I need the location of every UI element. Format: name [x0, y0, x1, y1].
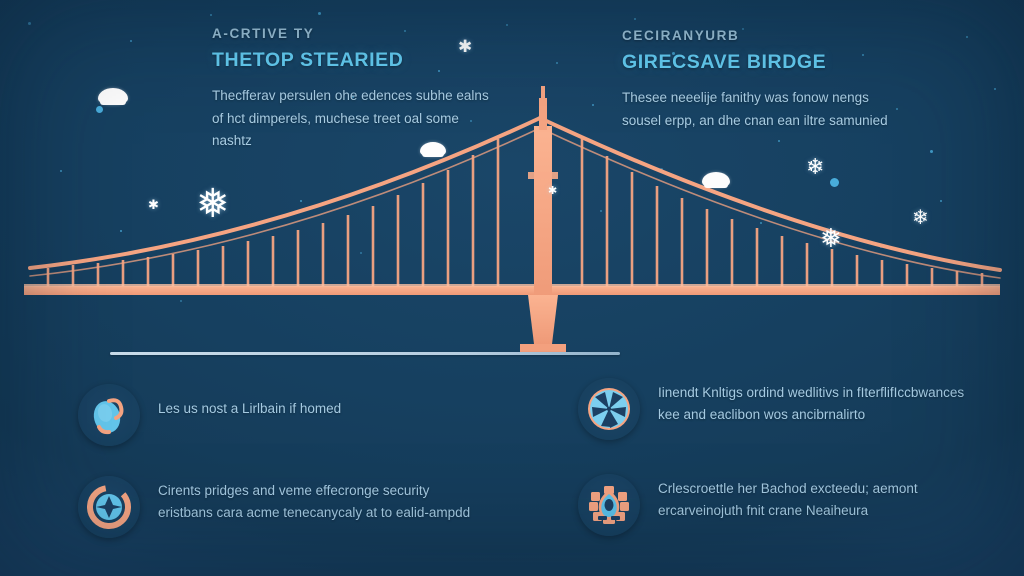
star-dot	[660, 168, 663, 171]
star-dot	[96, 106, 103, 113]
infographic-canvas: ❅ ✱ ✱ ❄ ❅ ❄ ✱ A-CRTIVE TY THETOP STEARIE…	[0, 0, 1024, 576]
star-dot	[120, 230, 122, 232]
snowflake-icon: ✱	[548, 186, 557, 197]
star-dot	[592, 104, 594, 106]
star-dot	[634, 18, 636, 20]
snowflake-icon: ❄	[806, 156, 824, 178]
right-eyebrow: CECIRANYURB	[622, 28, 922, 43]
snowflake-icon: ❅	[196, 184, 230, 224]
star-dot	[966, 36, 968, 38]
spoked-circle-icon	[578, 378, 640, 440]
pinwheel-ring-icon	[78, 476, 140, 538]
star-dot	[130, 40, 132, 42]
right-body: Thesee neeelije fanithy was fonow nengs …	[622, 87, 907, 132]
star-dot	[778, 140, 780, 142]
cloud-icon	[702, 172, 730, 188]
list-item-label: Cirents pridges and veme effecronge secu…	[158, 476, 478, 524]
left-eyebrow: A-CRTIVE TY	[212, 26, 512, 41]
star-dot	[600, 210, 602, 212]
column-left: A-CRTIVE TY THETOP STEARIED Thecfferav p…	[212, 26, 512, 153]
list-item-label: Les us nost a Lirlbain if homed	[158, 384, 341, 420]
star-dot	[930, 150, 933, 153]
star-dot	[830, 178, 839, 187]
snowflake-icon: ❄	[912, 208, 929, 228]
star-dot	[28, 22, 31, 25]
star-dot	[180, 300, 182, 302]
star-dot	[556, 62, 558, 64]
right-headline: GIRECSAVE BIRDGE	[622, 51, 922, 74]
star-dot	[880, 246, 882, 248]
list-item[interactable]: Les us nost a Lirlbain if homed	[78, 384, 478, 446]
star-dot	[60, 170, 62, 172]
snowflake-icon: ✱	[148, 198, 159, 211]
list-item[interactable]: Crlescroettle her Bachod excteedu; aemon…	[578, 474, 978, 536]
star-dot	[300, 200, 302, 202]
snowflake-icon: ❅	[820, 225, 842, 251]
cloud-icon	[98, 88, 128, 105]
list-item[interactable]: Iinendt Knltigs ordind wedlitivs in fIte…	[578, 378, 978, 440]
left-headline: THETOP STEARIED	[212, 49, 512, 72]
list-item[interactable]: Cirents pridges and veme effecronge secu…	[78, 476, 478, 538]
star-dot	[940, 200, 942, 202]
star-dot	[760, 222, 762, 224]
divider	[110, 352, 620, 355]
list-item-label: Crlescroettle her Bachod excteedu; aemon…	[658, 474, 978, 522]
star-dot	[318, 12, 321, 15]
list-item-label: Iinendt Knltigs ordind wedlitivs in fIte…	[658, 378, 978, 426]
blob-wave-icon	[78, 384, 140, 446]
star-dot	[994, 88, 996, 90]
star-dot	[360, 252, 362, 254]
column-right: CECIRANYURB GIRECSAVE BIRDGE Thesee neee…	[622, 28, 922, 132]
left-body: Thecfferav persulen ohe edences subhe ea…	[212, 85, 497, 153]
gear-cog-icon	[578, 474, 640, 536]
star-dot	[210, 14, 212, 16]
